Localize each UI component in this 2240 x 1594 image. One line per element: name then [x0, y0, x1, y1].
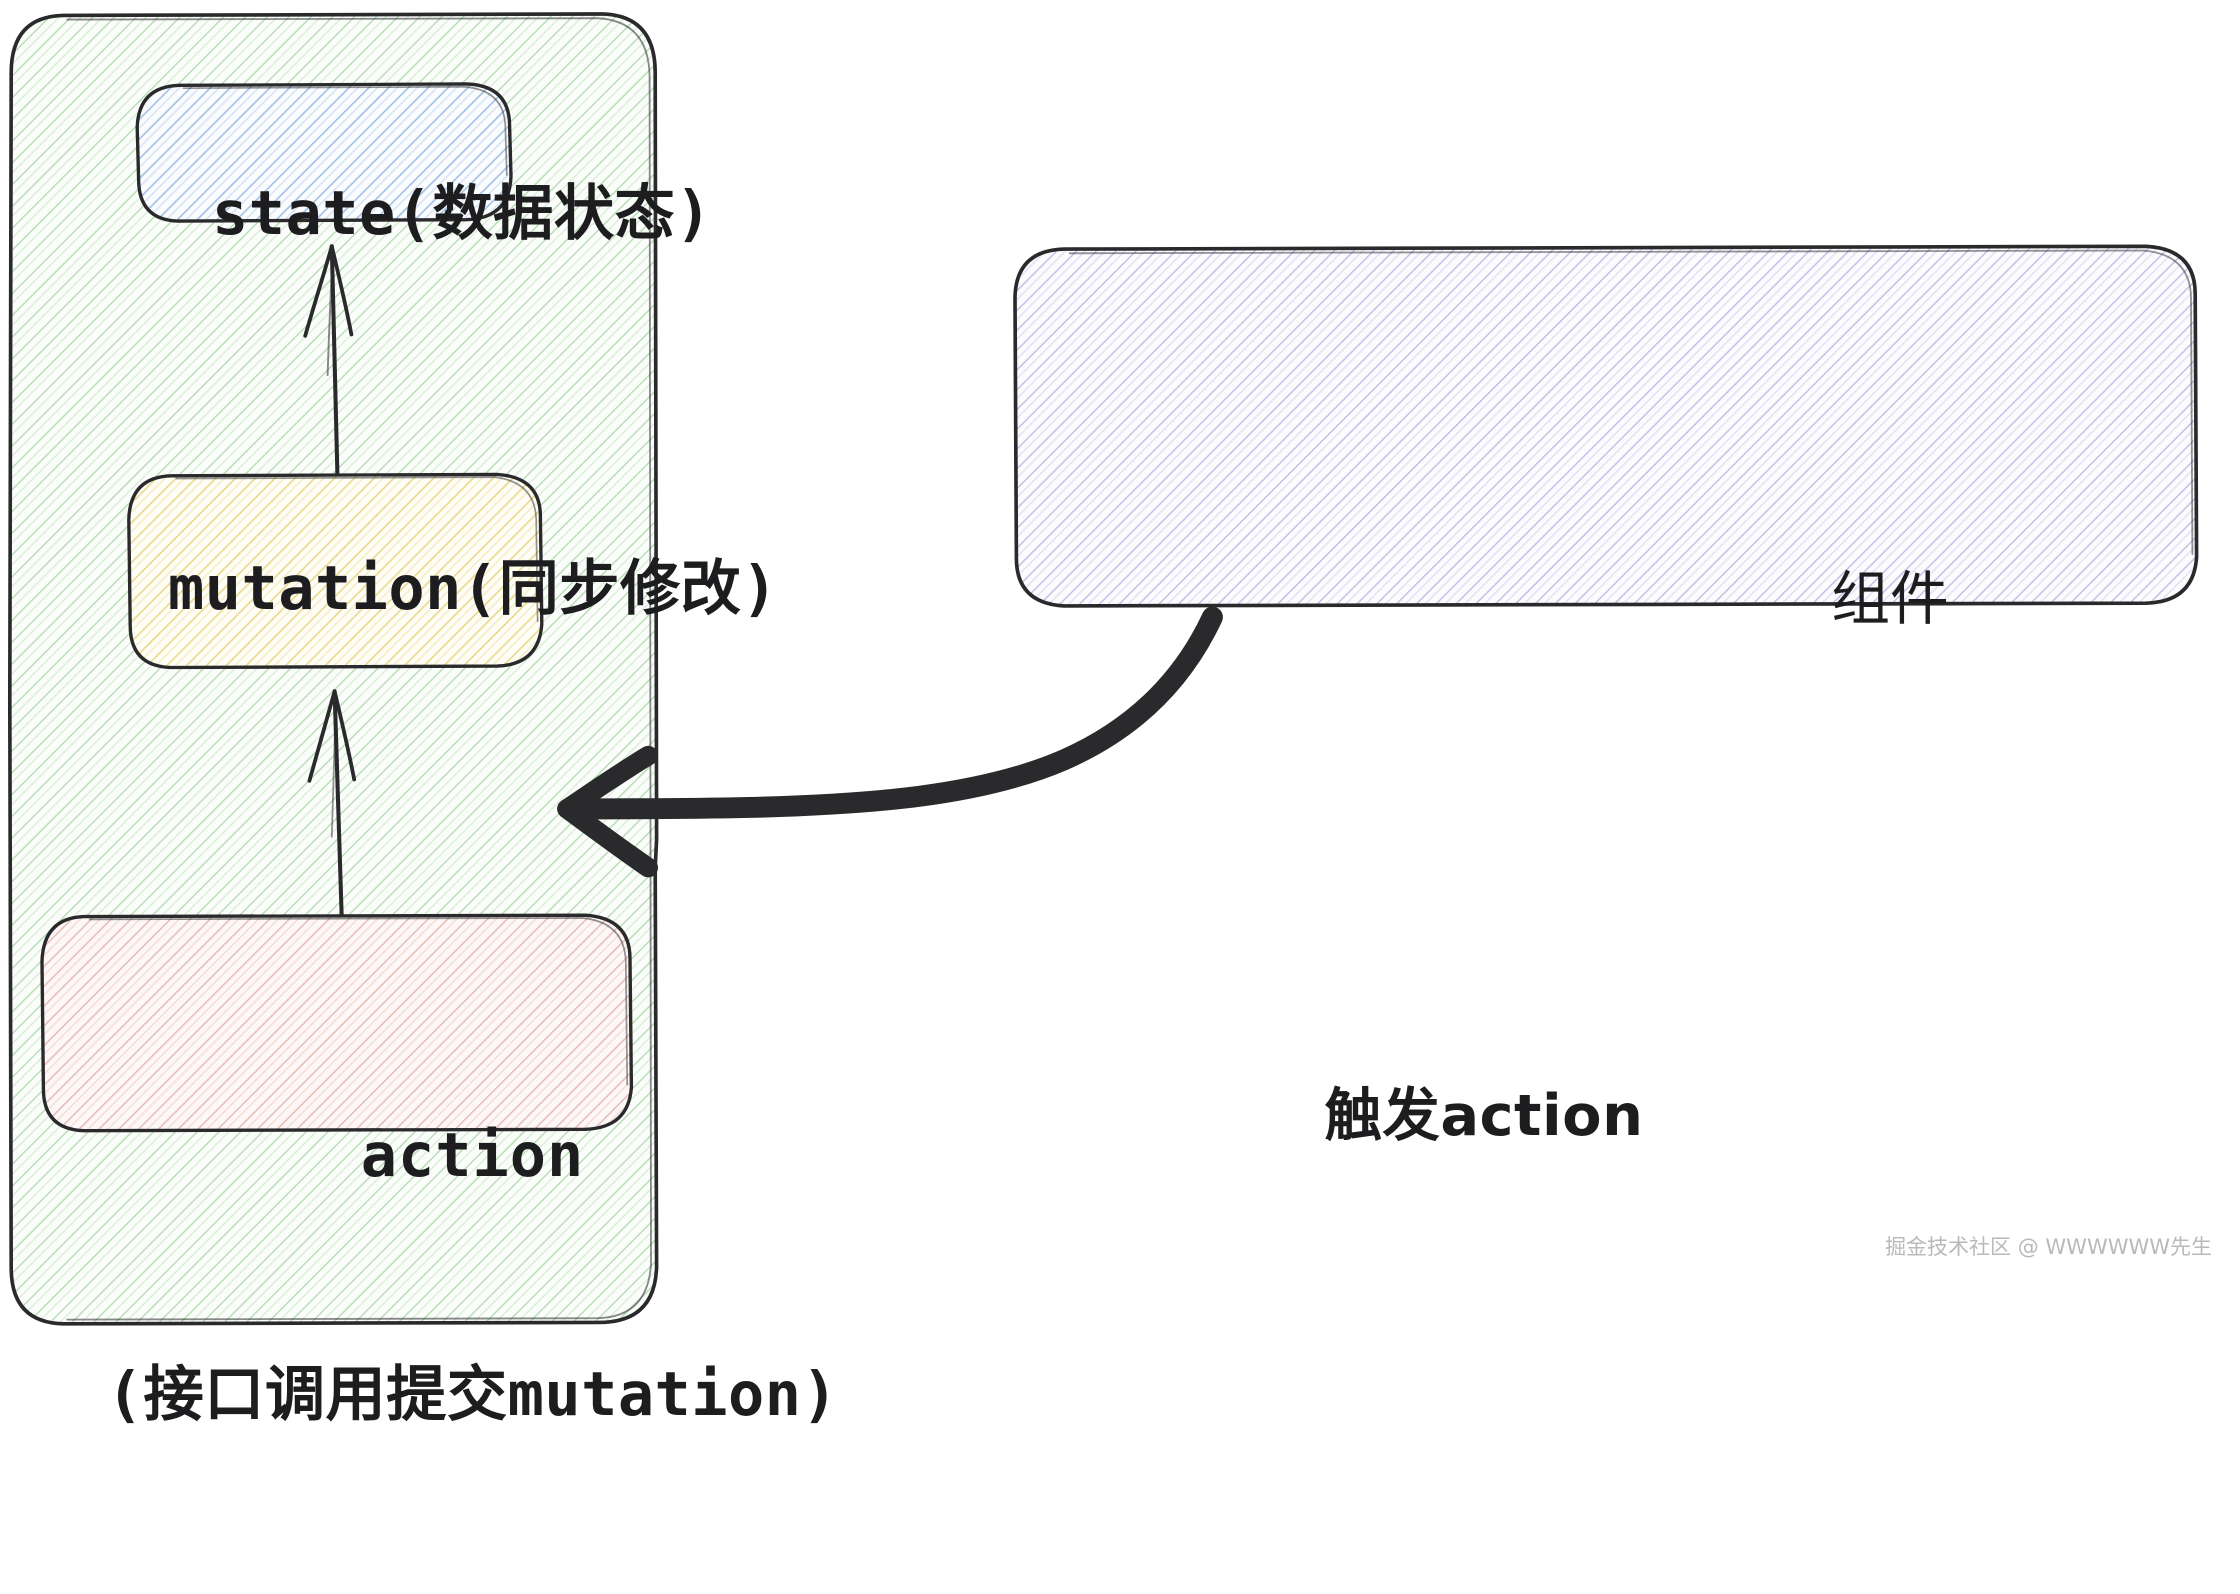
action-box-label-line2: (接口调用提交mutation) [63, 1356, 882, 1435]
arrow-component-to-action [567, 617, 1212, 867]
action-box[interactable] [42, 915, 631, 1131]
diagram-canvas: state(数据状态) mutation(同步修改) action (接口调用提… [0, 0, 2240, 1349]
mutation-box[interactable] [129, 474, 542, 667]
diagram-vector-layer [0, 0, 2240, 1349]
state-box[interactable] [137, 84, 511, 221]
component-box[interactable] [1015, 246, 2197, 606]
